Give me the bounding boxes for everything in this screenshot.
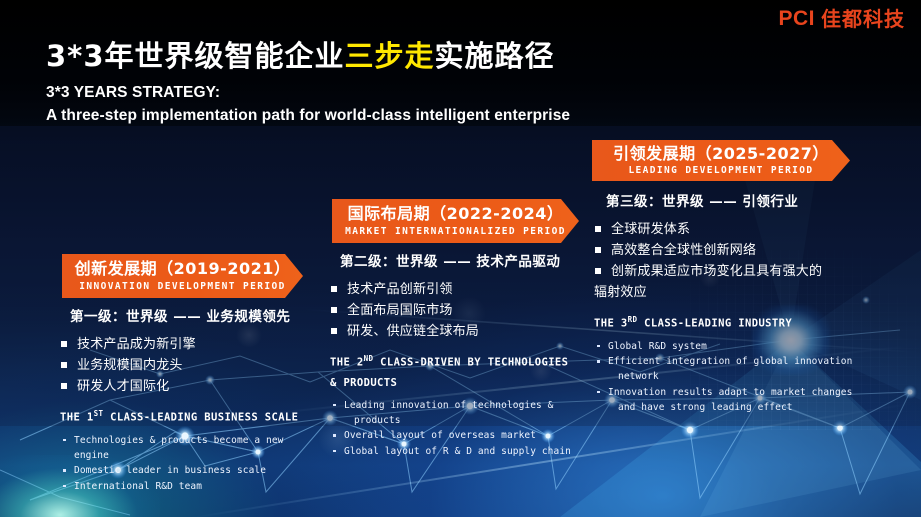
step-content-3: 第三级：世界级 —— 引领行业 全球研发体系 高效整合全球性创新网络 创新成果适… (594, 190, 856, 416)
step-3-bullets-en: Global R&D system Efficient integration … (594, 339, 856, 416)
brand-logo: PCI 佳都科技 (778, 8, 905, 29)
step-1-heading-en-ordinal: ST (94, 409, 104, 418)
step-3-heading-en: THE 3RD CLASS-LEADING INDUSTRY (594, 313, 856, 334)
list-item: 研发人才国际化 (60, 376, 322, 397)
step-banner-2[interactable]: 国际布局期（2022-2024） MARKET INTERNATIONALIZE… (332, 199, 579, 243)
step-banner-1-title-cn: 创新发展期（2019-2021） (75, 260, 291, 278)
logo-mark-text: PCI (778, 8, 815, 29)
list-item-continuation: products (330, 413, 580, 428)
list-item: 技术产品成为新引擎 (60, 334, 322, 355)
list-item: Global layout of R & D and supply chain (330, 444, 580, 459)
list-item-continuation: and have strong leading effect (594, 400, 856, 415)
list-item: 研发、供应链全球布局 (330, 321, 580, 342)
step-1-heading-cn: 第一级：世界级 —— 业务规模领先 (60, 305, 322, 325)
step-1-heading-en-post: CLASS-LEADING BUSINESS SCALE (103, 412, 298, 424)
step-3-heading-en-pre: THE 3 (594, 318, 628, 330)
list-item: 高效整合全球性创新网络 (594, 240, 856, 261)
slide-canvas: PCI 佳都科技 3*3年世界级智能企业三步走实施路径 3*3 YEARS ST… (0, 0, 921, 517)
logo-company-name: 佳都科技 (821, 9, 905, 29)
step-banner-1[interactable]: 创新发展期（2019-2021） INNOVATION DEVELOPMENT … (62, 254, 303, 298)
step-banner-2-title-cn: 国际布局期（2022-2024） (348, 205, 564, 223)
step-1-heading-en-pre: THE 1 (60, 412, 94, 424)
step-2-heading-en-pre: THE 2 (330, 357, 364, 369)
list-item: Technologies & products become a new eng… (60, 433, 322, 464)
list-item: Overall layout of overseas market (330, 428, 580, 443)
list-item-continuation: 辐射效应 (594, 282, 856, 303)
step-3-heading-cn: 第三级：世界级 —— 引领行业 (594, 190, 856, 210)
step-content-1: 第一级：世界级 —— 业务规模领先 技术产品成为新引擎 业务规模国内龙头 研发人… (60, 305, 322, 494)
page-title-cn: 3*3年世界级智能企业三步走实施路径 (46, 40, 570, 73)
step-3-bullets-cn: 全球研发体系 高效整合全球性创新网络 创新成果适应市场变化且具有强大的 辐射效应 (594, 219, 856, 303)
step-2-bullets-en: Leading innovation of technologies & pro… (330, 398, 580, 460)
list-item: 业务规模国内龙头 (60, 355, 322, 376)
list-item: 全面布局国际市场 (330, 300, 580, 321)
step-banner-2-title-en: MARKET INTERNATIONALIZED PERIOD (345, 226, 566, 237)
step-1-bullets-en: Technologies & products become a new eng… (60, 433, 322, 495)
step-3-heading-en-ordinal: RD (628, 315, 638, 324)
list-item: Efficient integration of global innovati… (594, 354, 856, 369)
step-banner-3-title-en: LEADING DEVELOPMENT PERIOD (628, 165, 813, 176)
page-title-cn-part2: 实施路径 (435, 39, 555, 73)
step-2-heading-en: THE 2ND CLASS-DRIVEN BY TECHNOLOGIES & P… (330, 352, 580, 393)
slide-header: 3*3年世界级智能企业三步走实施路径 3*3 YEARS STRATEGY: A… (46, 40, 570, 127)
list-item: Domestic leader in business scale (60, 463, 322, 478)
list-item: 创新成果适应市场变化且具有强大的 (594, 261, 856, 282)
list-item: 技术产品创新引领 (330, 279, 580, 300)
step-banner-1-title-en: INNOVATION DEVELOPMENT PERIOD (79, 281, 285, 292)
step-banner-3-title-cn: 引领发展期（2025-2027） (613, 145, 829, 163)
step-2-heading-en-ordinal: ND (364, 354, 374, 363)
page-subtitle-en: 3*3 YEARS STRATEGY: A three-step impleme… (46, 82, 570, 127)
step-1-heading-en: THE 1ST CLASS-LEADING BUSINESS SCALE (60, 407, 322, 428)
step-3-heading-en-post: CLASS-LEADING INDUSTRY (637, 318, 792, 330)
list-item: 全球研发体系 (594, 219, 856, 240)
page-subtitle-line2: A three-step implementation path for wor… (46, 105, 570, 127)
step-banner-3[interactable]: 引领发展期（2025-2027） LEADING DEVELOPMENT PER… (592, 140, 850, 181)
page-title-cn-highlight: 三步走 (345, 39, 435, 73)
page-subtitle-line1: 3*3 YEARS STRATEGY: (46, 82, 570, 104)
list-item: Global R&D system (594, 339, 856, 354)
list-item: Innovation results adapt to market chang… (594, 385, 856, 400)
step-2-heading-cn: 第二级：世界级 —— 技术产品驱动 (330, 250, 580, 270)
list-item: Leading innovation of technologies & (330, 398, 580, 413)
step-content-2: 第二级：世界级 —— 技术产品驱动 技术产品创新引领 全面布局国际市场 研发、供… (330, 250, 580, 459)
list-item-continuation: network (594, 369, 856, 384)
page-title-cn-part1: 3*3年世界级智能企业 (46, 39, 345, 73)
step-2-bullets-cn: 技术产品创新引领 全面布局国际市场 研发、供应链全球布局 (330, 279, 580, 342)
step-1-bullets-cn: 技术产品成为新引擎 业务规模国内龙头 研发人才国际化 (60, 334, 322, 397)
list-item: International R&D team (60, 479, 322, 494)
